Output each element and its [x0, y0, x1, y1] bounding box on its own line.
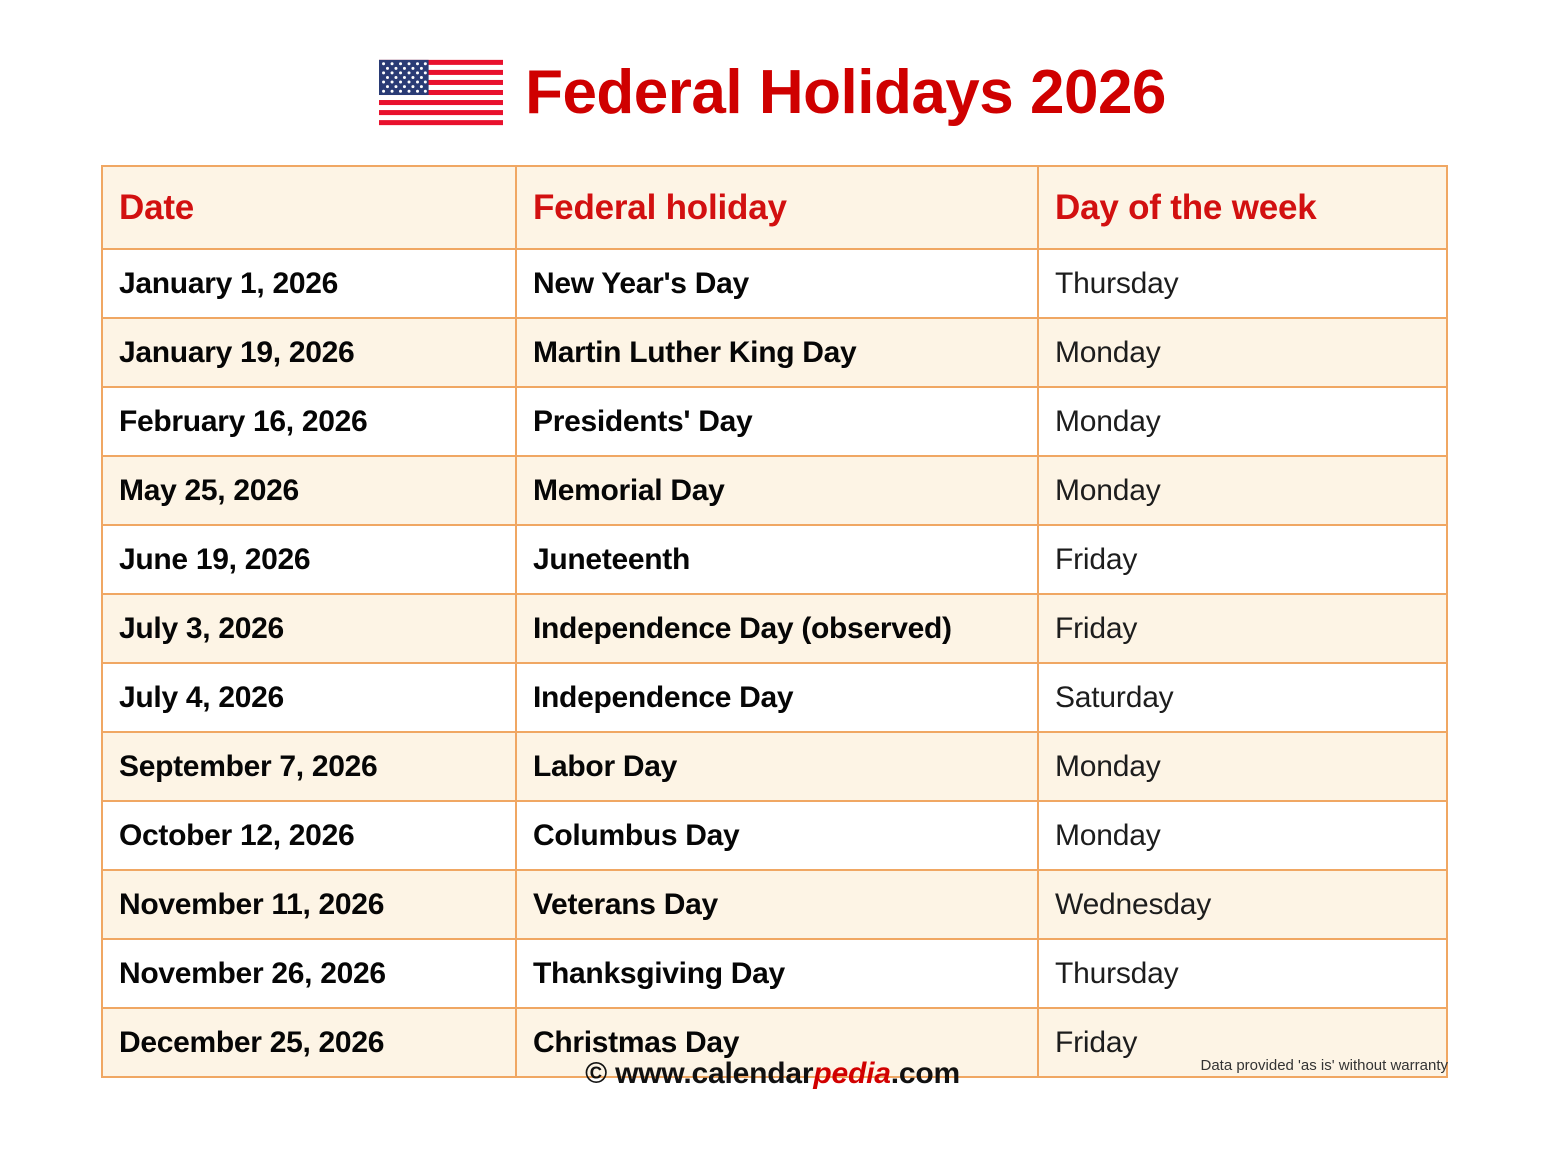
cell-holiday: Independence Day — [516, 663, 1038, 732]
cell-day: Wednesday — [1038, 870, 1447, 939]
site-accent: pedia — [813, 1057, 890, 1090]
disclaimer-text: Data provided 'as is' without warranty — [1200, 1057, 1448, 1074]
cell-date: November 11, 2026 — [102, 870, 516, 939]
cell-day: Friday — [1038, 594, 1447, 663]
page-root: Federal Holidays 2026 Date Federal holid… — [0, 0, 1545, 1167]
cell-day: Saturday — [1038, 663, 1447, 732]
cell-day: Monday — [1038, 801, 1447, 870]
cell-date: July 3, 2026 — [102, 594, 516, 663]
page-title: Federal Holidays 2026 — [525, 62, 1166, 124]
cell-date: February 16, 2026 — [102, 387, 516, 456]
table-row: July 3, 2026 Independence Day (observed)… — [102, 594, 1447, 663]
copyright-symbol: © — [585, 1057, 607, 1090]
cell-holiday: Independence Day (observed) — [516, 594, 1038, 663]
cell-day: Monday — [1038, 732, 1447, 801]
cell-date: May 25, 2026 — [102, 456, 516, 525]
table-row: July 4, 2026 Independence Day Saturday — [102, 663, 1447, 732]
cell-date: July 4, 2026 — [102, 663, 516, 732]
table-body: January 1, 2026 New Year's Day Thursday … — [102, 249, 1447, 1077]
cell-holiday: Presidents' Day — [516, 387, 1038, 456]
cell-holiday: Thanksgiving Day — [516, 939, 1038, 1008]
cell-holiday: Memorial Day — [516, 456, 1038, 525]
table-row: June 19, 2026 Juneteenth Friday — [102, 525, 1447, 594]
column-header-holiday: Federal holiday — [516, 166, 1038, 249]
table-row: May 25, 2026 Memorial Day Monday — [102, 456, 1447, 525]
cell-day: Thursday — [1038, 939, 1447, 1008]
cell-holiday: Juneteenth — [516, 525, 1038, 594]
cell-date: January 1, 2026 — [102, 249, 516, 318]
page-header: Federal Holidays 2026 — [0, 58, 1545, 127]
cell-holiday: New Year's Day — [516, 249, 1038, 318]
cell-holiday: Martin Luther King Day — [516, 318, 1038, 387]
cell-day: Monday — [1038, 456, 1447, 525]
cell-day: Thursday — [1038, 249, 1447, 318]
table-head: Date Federal holiday Day of the week — [102, 166, 1447, 249]
table-row: November 26, 2026 Thanksgiving Day Thurs… — [102, 939, 1447, 1008]
table-row: January 19, 2026 Martin Luther King Day … — [102, 318, 1447, 387]
table-row: February 16, 2026 Presidents' Day Monday — [102, 387, 1447, 456]
cell-day: Monday — [1038, 318, 1447, 387]
table-row: November 11, 2026 Veterans Day Wednesday — [102, 870, 1447, 939]
table-header-row: Date Federal holiday Day of the week — [102, 166, 1447, 249]
cell-holiday: Veterans Day — [516, 870, 1038, 939]
cell-date: October 12, 2026 — [102, 801, 516, 870]
cell-date: September 7, 2026 — [102, 732, 516, 801]
table-row: October 12, 2026 Columbus Day Monday — [102, 801, 1447, 870]
us-flag-icon — [379, 58, 503, 127]
site-suffix: .com — [891, 1057, 960, 1090]
table-row: January 1, 2026 New Year's Day Thursday — [102, 249, 1447, 318]
site-prefix: www.calendar — [615, 1057, 813, 1090]
cell-holiday: Columbus Day — [516, 801, 1038, 870]
cell-day: Monday — [1038, 387, 1447, 456]
column-header-date: Date — [102, 166, 516, 249]
table-row: September 7, 2026 Labor Day Monday — [102, 732, 1447, 801]
cell-date: November 26, 2026 — [102, 939, 516, 1008]
cell-date: June 19, 2026 — [102, 525, 516, 594]
column-header-day: Day of the week — [1038, 166, 1447, 249]
federal-holidays-table: Date Federal holiday Day of the week Jan… — [101, 165, 1448, 1078]
cell-date: January 19, 2026 — [102, 318, 516, 387]
cell-holiday: Labor Day — [516, 732, 1038, 801]
cell-day: Friday — [1038, 525, 1447, 594]
